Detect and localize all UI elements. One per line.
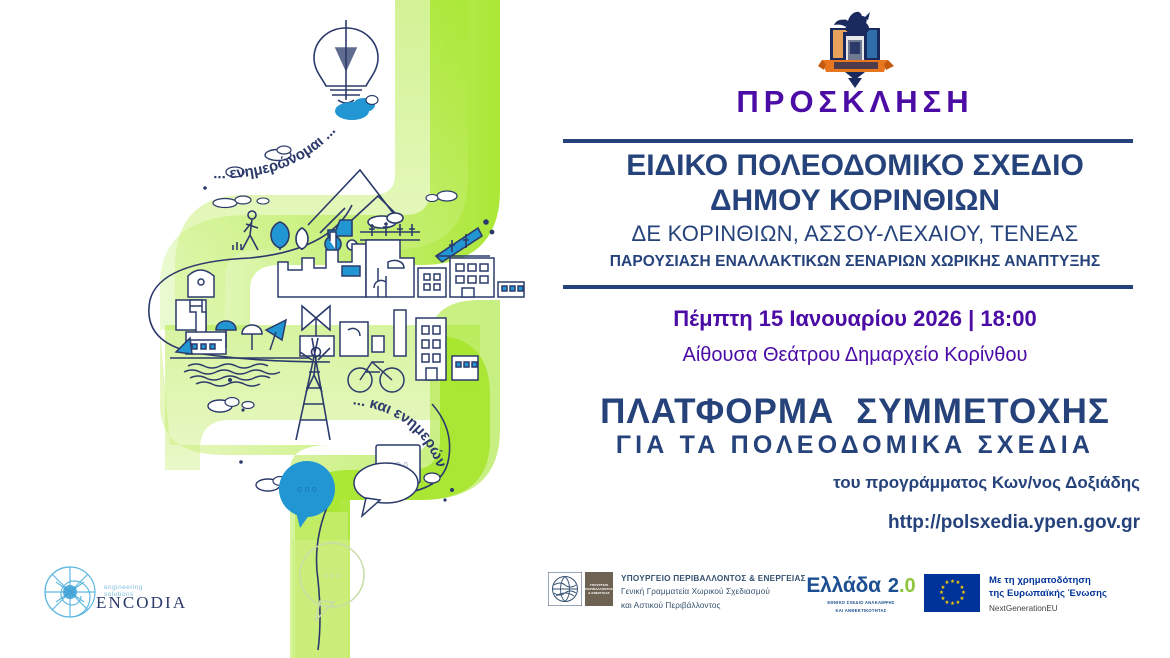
eu-star-icon: ★ <box>961 591 965 595</box>
ellada-version-major: 2 <box>888 575 899 597</box>
korinthos-coat-of-arms-icon <box>812 8 898 90</box>
platform-word-2: ΣΥΜΜΕΤΟΧΗΣ <box>856 392 1110 431</box>
eu-flag-icon: ★★★★★★★★★★★★ <box>924 574 980 612</box>
divider-bottom <box>563 285 1133 289</box>
ellada-sub-2: ΚΑΙ ΑΝΘΕΚΤΙΚΟΤΗΤΑΣ <box>806 608 916 614</box>
eu-funding-logo: ★★★★★★★★★★★★ Με τη χρηματοδότηση της Ευρ… <box>924 574 1107 614</box>
ministry-strip-text: ΥΠΟΥΡΓΕΙΟ ΠΕΡΙΒΑΛΛΟΝΤΟΣ & ΕΝΕΡΓΕΙΑΣ <box>585 583 613 596</box>
encodia-logo: engineering solutions ENCODIA <box>36 562 166 628</box>
eu-star-icon: ★ <box>950 602 954 606</box>
footer-logos: engineering solutions ENCODIA ΥΠΟΥΡΓΕΙΟ … <box>0 566 1170 636</box>
ministry-emblem-icon <box>548 572 582 606</box>
eu-star-icon: ★ <box>940 597 944 601</box>
ministry-text: ΥΠΟΥΡΓΕΙΟ ΠΕΡΙΒΑΛΛΟΝΤΟΣ & ΕΝΕΡΓΕΙΑΣ Γενι… <box>621 572 806 613</box>
event-venue: Αίθουσα Θεάτρου Δημαρχείο Κορίνθου <box>540 344 1170 366</box>
title-line-4: ΠΑΡΟΥΣΙΑΣΗ ΕΝΑΛΛΑΚΤΙΚΩΝ ΣΕΝΑΡΙΩΝ ΧΩΡΙΚΗΣ… <box>540 250 1170 274</box>
ministry-strip-label: ΥΠΟΥΡΓΕΙΟ ΠΕΡΙΒΑΛΛΟΝΤΟΣ & ΕΝΕΡΓΕΙΑΣ <box>585 572 613 606</box>
eu-star-icon: ★ <box>945 601 949 605</box>
eu-line-3: NextGenerationEU <box>989 603 1107 614</box>
ministry-line-1: ΥΠΟΥΡΓΕΙΟ ΠΕΡΙΒΑΛΛΟΝΤΟΣ & ΕΝΕΡΓΕΙΑΣ <box>621 573 806 584</box>
platform-heading-line-2: ΓΙΑ ΤΑ ΠΟΛΕΟΔΟΜΙΚΑ ΣΧΕΔΙΑ <box>540 433 1170 459</box>
poster-content: ΠΡΟΣΚΛΗΣΗ ΕΙΔΙΚΟ ΠΟΛΕΟΔΟΜΙΚΟ ΣΧΕΔΙΟ ΔΗΜΟ… <box>540 0 1170 658</box>
ellada-version-minor: 0 <box>905 575 916 597</box>
eu-star-icon: ★ <box>940 586 944 590</box>
title-line-1: ΕΙΔΙΚΟ ΠΟΛΕΟΔΟΜΙΚΟ ΣΧΕΔΙΟ <box>540 148 1170 183</box>
title-block: ΕΙΔΙΚΟ ΠΟΛΕΟΔΟΜΙΚΟ ΣΧΕΔΙΟ ΔΗΜΟΥ ΚΟΡΙΝΘΙΩ… <box>540 148 1170 274</box>
eu-line-2: της Ευρωπαϊκής Ένωσης <box>989 587 1107 600</box>
eu-star-icon: ★ <box>956 601 960 605</box>
platform-url[interactable]: http://polsxedia.ypen.gov.gr <box>540 513 1140 534</box>
eu-text: Με τη χρηματοδότηση της Ευρωπαϊκής Ένωση… <box>989 574 1107 614</box>
encodia-name: ENCODIA <box>96 593 187 613</box>
city-journey-illustration: o o o o O 0 o o o ... <box>0 0 540 658</box>
eu-star-icon: ★ <box>960 597 964 601</box>
eu-star-icon: ★ <box>960 586 964 590</box>
invitation-heading: ΠΡΟΣΚΛΗΣΗ <box>540 86 1170 117</box>
title-line-2: ΔΗΜΟΥ ΚΟΡΙΝΘΙΩΝ <box>540 183 1170 218</box>
ministry-logo: ΥΠΟΥΡΓΕΙΟ ΠΕΡΙΒΑΛΛΟΝΤΟΣ & ΕΝΕΡΓΕΙΑΣ ΥΠΟΥ… <box>548 572 806 613</box>
invitation-poster: o o o o O 0 o o o ... <box>0 0 1170 658</box>
eu-star-icon: ★ <box>939 591 943 595</box>
ministry-line-2: Γενική Γραμματεία Χωρικού Σχεδιασμού <box>621 586 806 598</box>
platform-heading-line-1: ΠΛΑΤΦΟΡΜΑΣΥΜΜΕΤΟΧΗΣ <box>540 394 1170 430</box>
ellada-version: 2.0 <box>888 575 916 598</box>
eu-star-icon: ★ <box>945 581 949 585</box>
eu-star-icon: ★ <box>950 580 954 584</box>
platform-word-1: ΠΛΑΤΦΟΡΜΑ <box>600 392 834 431</box>
speech-bubble-white-round <box>354 463 418 516</box>
title-line-3: ΔΕ ΚΟΡΙΝΘΙΩΝ, ΑΣΣΟΥ-ΛΕΧΑΙΟΥ, ΤΕΝΕΑΣ <box>540 218 1170 250</box>
greece-2-0-logo: Ελλάδα 2.0 ΕΘΝΙΚΟ ΣΧΕΔΙΟ ΑΝΑΚΑΜΨΗΣ ΚΑΙ Α… <box>806 574 916 615</box>
ellada-sub-1: ΕΘΝΙΚΟ ΣΧΕΔΙΟ ΑΝΑΚΑΜΨΗΣ <box>806 600 916 606</box>
svg-text:o o o: o o o <box>297 484 317 494</box>
program-name: του προγράμματος Κων/νος Δοξιάδης <box>540 474 1140 493</box>
ministry-line-3: και Αστικού Περιβάλλοντος <box>621 600 806 612</box>
ellada-row: Ελλάδα 2.0 <box>806 574 916 598</box>
event-datetime: Πέμπτη 15 Ιανουαρίου 2026 | 18:00 <box>540 307 1170 331</box>
eu-line-1: Με τη χρηματοδότηση <box>989 574 1107 587</box>
divider-top <box>563 139 1133 143</box>
ellada-name: Ελλάδα <box>806 574 880 598</box>
